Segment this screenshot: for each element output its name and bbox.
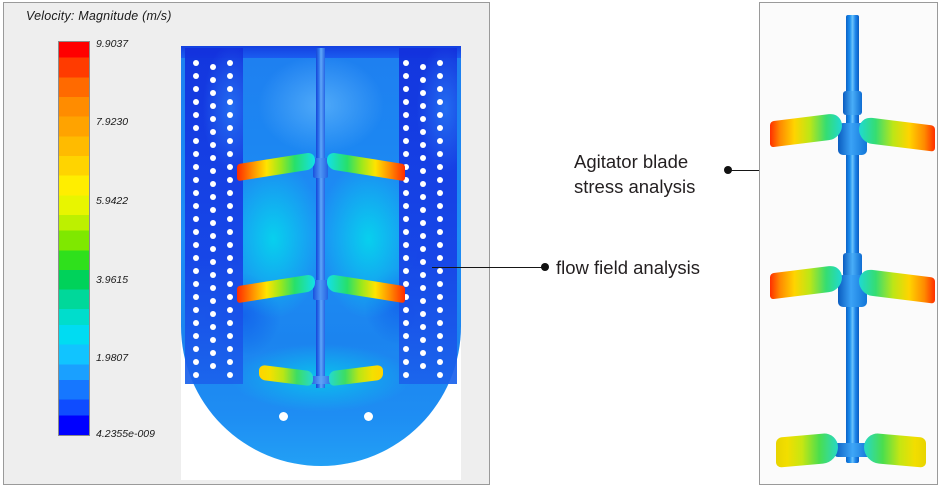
coil-tube-dot	[403, 86, 409, 92]
coil-tube-dot	[437, 164, 443, 170]
coil-tube-dot	[227, 320, 233, 326]
coil-tube-dot	[193, 307, 199, 313]
coil-tube-dot	[420, 285, 426, 291]
coil-tube-dot	[193, 151, 199, 157]
coil-tube-dot	[437, 99, 443, 105]
impeller-blade-bottom-right	[329, 365, 383, 387]
coil-tube-dot	[227, 73, 233, 79]
agitator-blade-bottom-right	[864, 432, 926, 467]
coil-tube-dot	[210, 90, 216, 96]
tank-cross-section	[181, 46, 461, 466]
coil-tube-dot	[437, 372, 443, 378]
coil-tube-dot	[437, 359, 443, 365]
coil-tube-dot	[227, 203, 233, 209]
coil-tube-dot	[227, 372, 233, 378]
impeller-hub-upper	[313, 158, 328, 178]
coil-tube-dot	[210, 337, 216, 343]
coil-tube-dot	[227, 242, 233, 248]
coil-tube-dot	[420, 298, 426, 304]
coil-tube-dot	[227, 190, 233, 196]
coil-tube-dot	[210, 194, 216, 200]
coil-tube-dot	[193, 86, 199, 92]
coil-tube-dot	[420, 337, 426, 343]
coil-tube-dot	[403, 346, 409, 352]
flow-field-annotation-label: flow field analysis	[556, 255, 700, 280]
coil-tube-dot	[210, 285, 216, 291]
coil-tube-dot	[193, 320, 199, 326]
coil-tube-dot	[403, 242, 409, 248]
coil-tube-dot	[403, 255, 409, 261]
coil-tube-dot	[420, 350, 426, 356]
coil-tube-dot	[403, 268, 409, 274]
coil-tube-dot	[420, 155, 426, 161]
coil-tube-dot	[193, 99, 199, 105]
coil-tube-dot	[403, 60, 409, 66]
colorbar-tick-4: 1.9807	[96, 352, 128, 364]
agitator-shaft-3d	[846, 15, 859, 463]
coil-tube-dot	[193, 60, 199, 66]
coil-tube-dot	[210, 324, 216, 330]
coil-tube-dot	[193, 125, 199, 131]
coil-tube-dot	[437, 333, 443, 339]
coil-tube-dot	[210, 103, 216, 109]
coil-tube-dot	[437, 112, 443, 118]
coil-tube-dot	[210, 181, 216, 187]
coil-tube-dot	[193, 216, 199, 222]
coil-tube-dot	[227, 229, 233, 235]
coil-tube-dot	[227, 307, 233, 313]
coil-tube-dot	[210, 311, 216, 317]
coil-tube-dot	[437, 177, 443, 183]
coil-tube-dot	[227, 255, 233, 261]
screenshot-root: Velocity: Magnitude (m/s) 9.9037 7.9230 …	[0, 0, 940, 488]
coil-tube-dot	[227, 216, 233, 222]
coil-tube-dot	[193, 294, 199, 300]
coil-tube-dot	[193, 73, 199, 79]
coil-tube-dot	[210, 298, 216, 304]
coil-tube-dot	[193, 281, 199, 287]
coil-tube-dot	[420, 246, 426, 252]
coil-tube-dot	[210, 233, 216, 239]
coil-tube-dot	[437, 242, 443, 248]
coil-tube-dot	[193, 346, 199, 352]
coil-tube-dot	[210, 168, 216, 174]
coil-tube-dot	[437, 307, 443, 313]
coil-tube-dot	[403, 333, 409, 339]
coil-tube-dot	[403, 138, 409, 144]
coil-tube-dot	[420, 363, 426, 369]
coil-tube-dot	[420, 129, 426, 135]
coil-tube-dot	[437, 151, 443, 157]
coil-tube-dot	[193, 164, 199, 170]
impeller-blade-upper-right	[327, 152, 405, 181]
coil-tube-dot	[193, 190, 199, 196]
coil-tube-dot	[420, 220, 426, 226]
coil-tube-dot	[193, 203, 199, 209]
shaft-coupling-upper	[843, 91, 862, 115]
coil-tube-dot	[193, 359, 199, 365]
coil-tube-dot	[210, 64, 216, 70]
impeller-blade-middle-right	[327, 274, 405, 303]
coil-tube-dot	[420, 207, 426, 213]
coil-tube-dot	[210, 220, 216, 226]
coil-tube-dot	[403, 73, 409, 79]
flow-field-leader-dot	[541, 263, 549, 271]
coil-tube-dot	[420, 64, 426, 70]
coil-tube-dot	[437, 190, 443, 196]
coil-tube-dot	[193, 138, 199, 144]
coil-tube-dot	[227, 359, 233, 365]
coil-tube-dot	[420, 168, 426, 174]
colorbar-tick-5: 4.2355e-009	[96, 428, 155, 440]
colorbar-tick-3: 3.9615	[96, 274, 128, 286]
coil-tube-dot	[420, 324, 426, 330]
coil-tube-dot	[210, 116, 216, 122]
coil-tube-dot	[210, 155, 216, 161]
coil-tube-dot	[437, 346, 443, 352]
coil-tube-dot	[403, 307, 409, 313]
coil-tube-dot	[420, 181, 426, 187]
coil-tube-dot	[210, 207, 216, 213]
coil-tube-dot	[193, 177, 199, 183]
agitator-blade-lower-left	[770, 265, 842, 300]
coil-tube-dot	[437, 281, 443, 287]
shaft-coupling-lower	[843, 253, 862, 277]
coil-tube-dot	[227, 177, 233, 183]
coil-tube-dot	[227, 138, 233, 144]
coil-tube-dot	[403, 190, 409, 196]
coil-tube-dot	[420, 194, 426, 200]
impeller-blade-middle-left	[237, 274, 315, 303]
flow-field-leader-line	[432, 267, 542, 268]
agitator-annotation-line1: Agitator blade	[574, 149, 688, 174]
agitator-blade-lower-right	[859, 268, 935, 303]
coil-tube-dot	[227, 86, 233, 92]
coil-tube-dot	[437, 86, 443, 92]
coil-tube-dot	[227, 294, 233, 300]
coil-tube-dot	[227, 151, 233, 157]
coil-tube-dot	[437, 229, 443, 235]
impeller-blade-upper-left	[237, 152, 315, 181]
coil-tube-dot	[227, 112, 233, 118]
impeller-hub-middle	[313, 280, 328, 300]
coil-tube-dot	[420, 259, 426, 265]
coil-tube-dot	[193, 229, 199, 235]
coil-tube-dot	[437, 268, 443, 274]
coil-tube-dot	[210, 77, 216, 83]
impeller-shaft	[316, 48, 325, 388]
coil-tube-dot	[420, 311, 426, 317]
coil-tube-dot	[193, 255, 199, 261]
coil-tube-dot	[193, 242, 199, 248]
coil-tube-dot	[403, 359, 409, 365]
coil-tube-dot	[403, 203, 409, 209]
coil-tube-dot	[193, 372, 199, 378]
agitator-annotation-line2: stress analysis	[574, 174, 695, 199]
coil-tube-dot	[227, 268, 233, 274]
coil-tube-dot	[193, 112, 199, 118]
cfd-contour-image	[181, 46, 461, 480]
coil-tube-dot	[227, 99, 233, 105]
coil-tube-dot	[420, 142, 426, 148]
coil-tube-dot	[420, 233, 426, 239]
cfd-panel-title: Velocity: Magnitude (m/s)	[26, 9, 172, 23]
coil-tube-dot	[420, 272, 426, 278]
coil-tube-dot	[437, 294, 443, 300]
agitator-blade-upper-left	[770, 113, 842, 148]
bottom-nozzle-right	[364, 412, 373, 421]
coil-tube-dot	[227, 333, 233, 339]
agitator-stress-panel	[759, 2, 938, 485]
coil-tube-dot	[437, 125, 443, 131]
coil-tube-dot	[210, 129, 216, 135]
coil-tube-dot	[403, 216, 409, 222]
coil-tube-dot	[437, 255, 443, 261]
coil-tube-dot	[210, 142, 216, 148]
coil-tube-dot	[210, 259, 216, 265]
coil-tube-dot	[227, 164, 233, 170]
colorbar-tick-2: 5.9422	[96, 195, 128, 207]
coil-tube-dot	[437, 60, 443, 66]
coil-tube-dot	[437, 73, 443, 79]
coil-tube-dot	[403, 320, 409, 326]
coil-tube-dot	[437, 320, 443, 326]
coil-tube-dot	[210, 350, 216, 356]
coil-tube-dot	[420, 77, 426, 83]
coil-tube-dot	[210, 246, 216, 252]
coil-tube-dot	[210, 363, 216, 369]
coil-tube-dot	[403, 151, 409, 157]
colorbar-gradient	[58, 41, 90, 436]
coil-tube-dot	[403, 99, 409, 105]
impeller-blade-bottom-left	[259, 365, 313, 387]
coil-tube-dot	[437, 138, 443, 144]
coil-tube-dot	[227, 125, 233, 131]
agitator-blade-bottom-left	[776, 432, 838, 467]
coil-tube-dot	[403, 125, 409, 131]
coil-tube-dot	[420, 116, 426, 122]
colorbar-tick-0: 9.9037	[96, 38, 128, 50]
agitator-blade-upper-right	[859, 116, 935, 151]
coil-tube-dot	[403, 112, 409, 118]
coil-tube-dot	[403, 372, 409, 378]
colorbar-tick-1: 7.9230	[96, 116, 128, 128]
coil-tube-dot	[193, 333, 199, 339]
bottom-nozzle-left	[279, 412, 288, 421]
coil-tube-dot	[437, 203, 443, 209]
coil-tube-dot	[420, 90, 426, 96]
velocity-colorbar: 9.9037 7.9230 5.9422 3.9615 1.9807 4.235…	[58, 41, 92, 438]
cfd-velocity-panel: Velocity: Magnitude (m/s) 9.9037 7.9230 …	[3, 2, 490, 485]
coil-tube-dot	[437, 216, 443, 222]
coil-tube-dot	[210, 272, 216, 278]
coil-tube-dot	[227, 60, 233, 66]
coil-tube-dot	[420, 103, 426, 109]
coil-tube-dot	[403, 229, 409, 235]
coil-tube-dot	[227, 346, 233, 352]
coil-tube-dot	[227, 281, 233, 287]
coil-tube-dot	[193, 268, 199, 274]
